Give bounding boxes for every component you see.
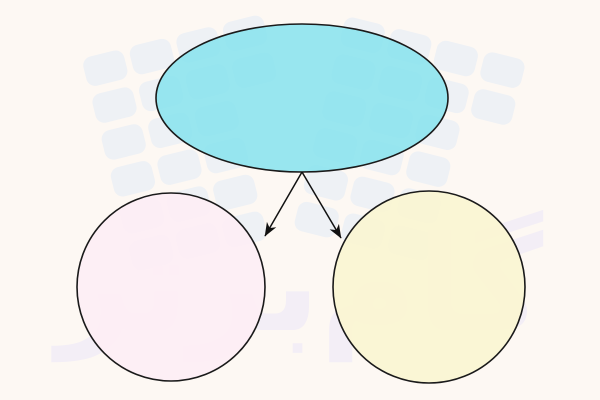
arrow-to-right-node (302, 172, 341, 238)
diagram-canvas: گام‌برتر بررسی عملکرد آزمون‌های آنلاین م… (0, 0, 600, 400)
node-right-circle[interactable] (333, 191, 525, 383)
diagram-shapes (0, 0, 600, 400)
node-left-circle[interactable] (77, 193, 265, 381)
node-root-ellipse[interactable] (156, 24, 448, 172)
arrow-to-left-node (265, 172, 302, 236)
